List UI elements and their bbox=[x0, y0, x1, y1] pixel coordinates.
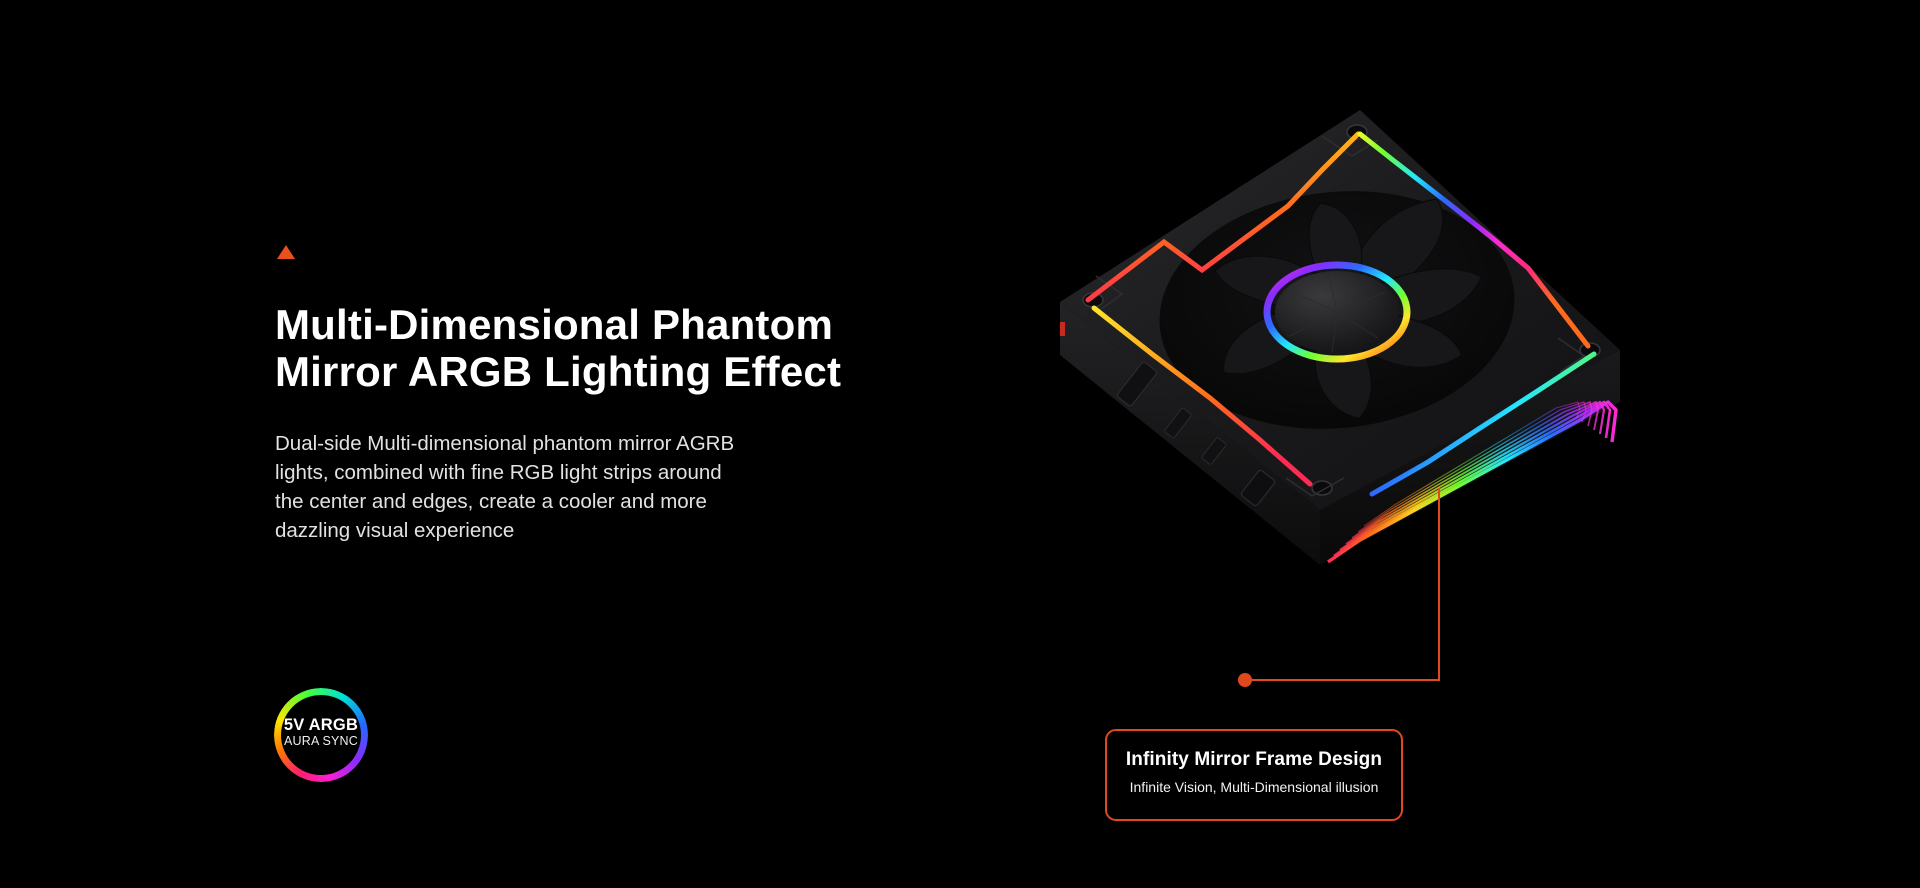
callout-subtitle: Infinite Vision, Multi-Dimensional illus… bbox=[1107, 779, 1401, 795]
badge-text: 5V ARGB AURA SYNC bbox=[260, 716, 382, 748]
product-image bbox=[1060, 110, 1780, 690]
fan-hub bbox=[1267, 265, 1407, 359]
promo-banner: Multi-Dimensional Phantom Mirror ARGB Li… bbox=[0, 0, 1920, 888]
text-column: Multi-Dimensional Phantom Mirror ARGB Li… bbox=[275, 245, 975, 546]
badge-label-primary: 5V ARGB bbox=[260, 716, 382, 734]
callout-title: Infinity Mirror Frame Design bbox=[1107, 749, 1401, 771]
triangle-up-icon bbox=[277, 245, 295, 259]
page-title: Multi-Dimensional Phantom Mirror ARGB Li… bbox=[275, 301, 975, 395]
body-copy: Dual-side Multi-dimensional phantom mirr… bbox=[275, 429, 885, 545]
badge-label-secondary: AURA SYNC bbox=[260, 734, 382, 748]
fan-illustration bbox=[1060, 110, 1780, 690]
red-accent-mark bbox=[1060, 322, 1065, 336]
argb-badge: 5V ARGB AURA SYNC bbox=[274, 688, 368, 782]
callout-box: Infinity Mirror Frame Design Infinite Vi… bbox=[1105, 729, 1403, 821]
